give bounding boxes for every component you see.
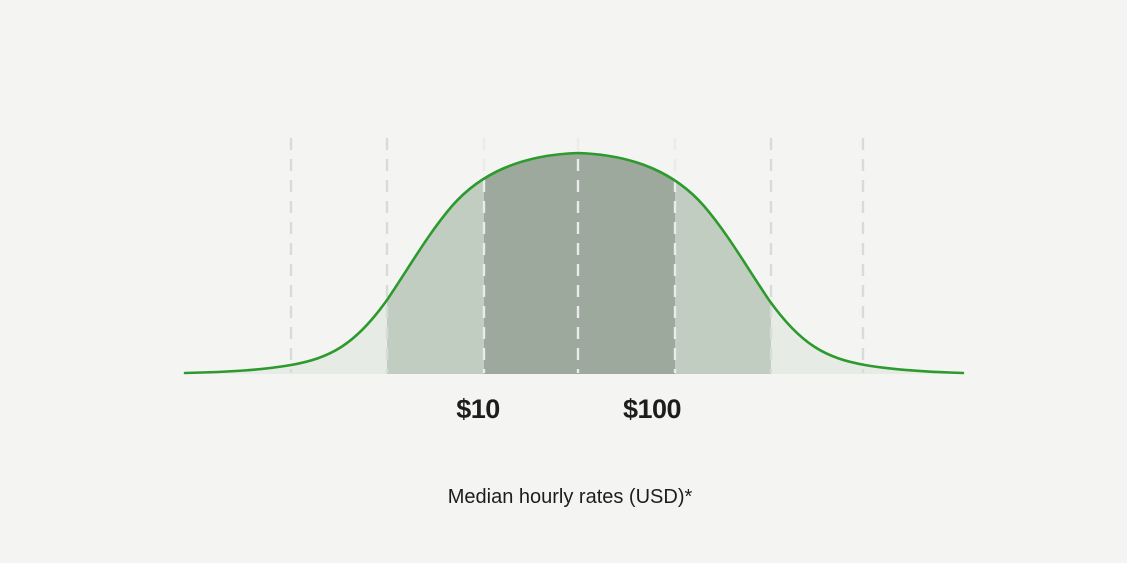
density-bands xyxy=(185,140,963,374)
band-core xyxy=(484,140,675,374)
chart-container: $10 $100 Median hourly rates (USD)* xyxy=(0,0,1127,563)
band-label-low: $10 xyxy=(456,396,500,423)
band-label-high: $100 xyxy=(623,396,681,423)
distribution-chart xyxy=(0,0,1127,563)
band-middle-right xyxy=(675,140,771,374)
band-middle-left xyxy=(387,140,484,374)
axis-caption: Median hourly rates (USD)* xyxy=(448,485,693,509)
band-outer-left xyxy=(185,140,387,374)
band-outer-right xyxy=(771,140,963,374)
